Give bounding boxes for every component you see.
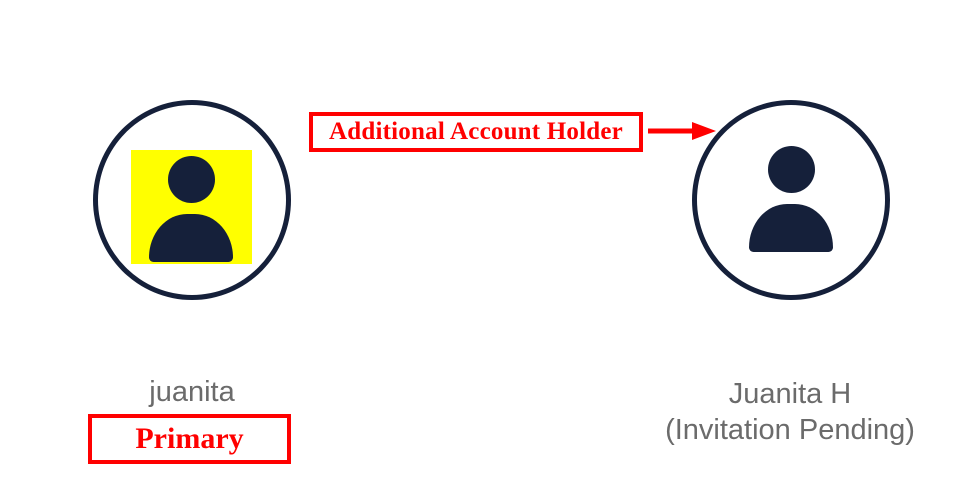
person-icon — [741, 146, 841, 252]
primary-status-badge-label: Primary — [135, 422, 243, 456]
person-icon-head — [768, 146, 815, 193]
person-icon — [141, 156, 241, 262]
person-icon-body — [749, 204, 833, 252]
additional-account-label-block: Juanita H (Invitation Pending) — [640, 376, 940, 448]
additional-account-holder-callout: Additional Account Holder — [309, 112, 643, 152]
primary-account-name: juanita — [93, 376, 291, 409]
person-icon-head — [168, 156, 215, 203]
additional-account-holder-callout-label: Additional Account Holder — [329, 118, 623, 146]
additional-account-name: Juanita H — [640, 376, 940, 412]
arrow-right-icon — [646, 120, 718, 142]
screenshot-canvas: juanita Primary Additional Account Holde… — [0, 0, 969, 494]
additional-account-status: (Invitation Pending) — [640, 412, 940, 448]
primary-status-badge: Primary — [88, 414, 291, 464]
person-icon-body — [149, 214, 233, 262]
